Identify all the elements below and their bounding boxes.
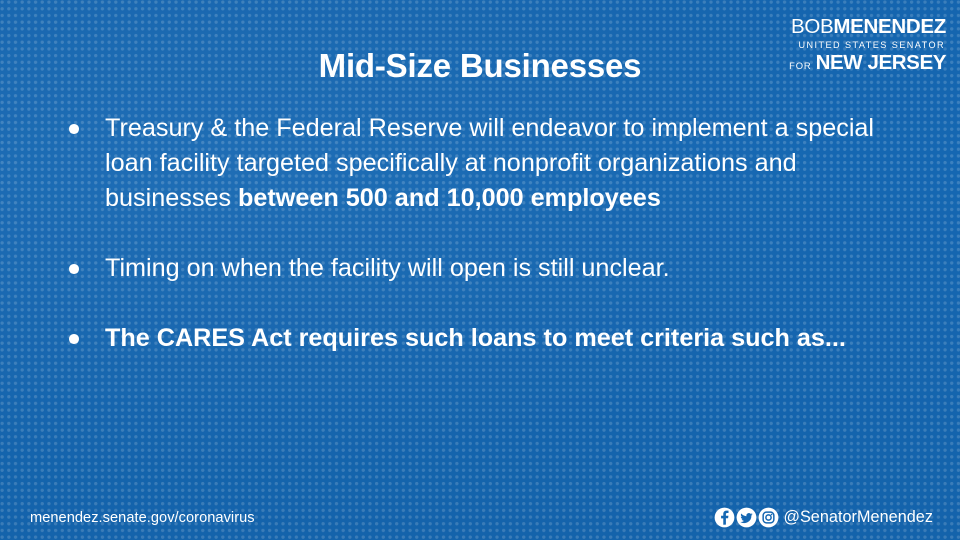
logo-name-line: BOBMENENDEZ: [789, 17, 946, 38]
bullet-2-segment-1: Timing on when the facility will open is…: [105, 254, 670, 282]
footer-social-group: @SenatorMenendez: [714, 507, 933, 528]
bullet-1-segment-2: between 500 and 10,000 employees: [238, 184, 661, 212]
logo-first-name: BOB: [791, 15, 833, 38]
footer-website-url[interactable]: menendez.senate.gov/coronavirus: [30, 510, 255, 526]
logo-last-name: MENENDEZ: [833, 15, 946, 38]
bullet-text-3: The CARES Act requires such loans to mee…: [105, 321, 900, 356]
bullet-marker-cell: [62, 111, 105, 134]
slide-content: BOBMENENDEZ UNITED STATES SENATOR FOR NE…: [0, 0, 960, 540]
bullet-item-3: The CARES Act requires such loans to mee…: [62, 321, 907, 356]
bullet-marker-cell: [62, 251, 105, 274]
bullet-marker-cell: [62, 321, 105, 344]
bullet-item-1: Treasury & the Federal Reserve will ende…: [62, 111, 907, 216]
bullet-3-segment-1: The CARES Act requires such loans to mee…: [105, 324, 846, 352]
bullet-list: Treasury & the Federal Reserve will ende…: [62, 111, 907, 356]
bullet-text-2: Timing on when the facility will open is…: [105, 251, 900, 286]
bullet-dot-icon: [69, 264, 79, 274]
twitter-icon[interactable]: [736, 507, 757, 528]
bullet-dot-icon: [69, 334, 79, 344]
bullet-item-2: Timing on when the facility will open is…: [62, 251, 907, 286]
instagram-icon[interactable]: [758, 507, 779, 528]
bullet-dot-icon: [69, 124, 79, 134]
social-handle-text[interactable]: @SenatorMenendez: [783, 508, 933, 527]
presentation-slide: BOBMENENDEZ UNITED STATES SENATOR FOR NE…: [0, 0, 960, 540]
facebook-icon[interactable]: [714, 507, 735, 528]
bullet-text-1: Treasury & the Federal Reserve will ende…: [105, 111, 900, 216]
slide-title: Mid-Size Businesses: [0, 47, 960, 85]
